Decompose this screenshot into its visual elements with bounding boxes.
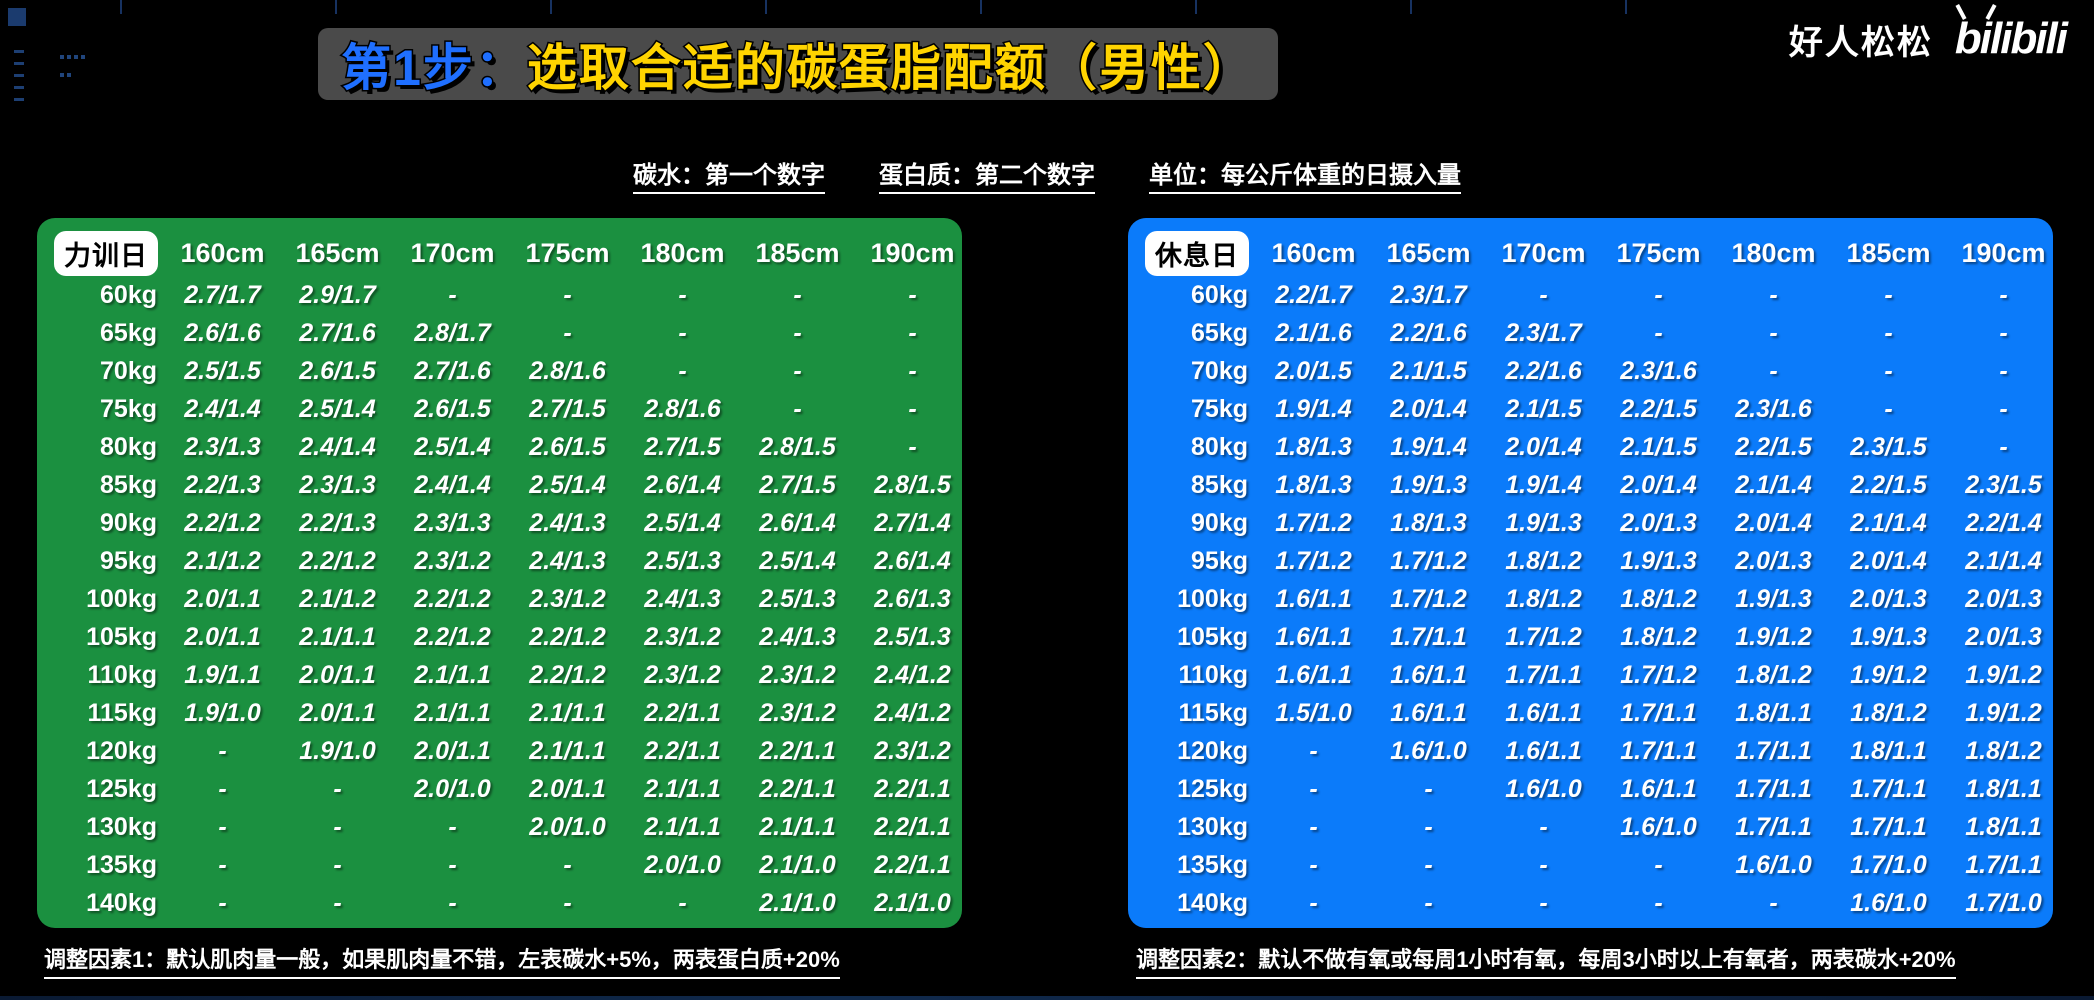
cell-70kg-175cm: 2.8/1.6: [510, 352, 625, 390]
table-row: 95kg2.1/1.22.2/1.22.3/1.22.4/1.32.5/1.32…: [47, 542, 970, 580]
cell-65kg-175cm: -: [1601, 314, 1716, 352]
row-header-85kg: 85kg: [47, 466, 165, 504]
cell-95kg-185cm: 2.0/1.4: [1831, 542, 1946, 580]
cell-65kg-180cm: -: [625, 314, 740, 352]
cell-95kg-160cm: 2.1/1.2: [165, 542, 280, 580]
table-badge-cell: 休息日: [1138, 230, 1256, 276]
bilibili-logo-text: bilibili: [1955, 14, 2066, 63]
cell-140kg-160cm: -: [1256, 884, 1371, 922]
cell-105kg-190cm: 2.0/1.3: [1946, 618, 2061, 656]
cell-140kg-175cm: -: [1601, 884, 1716, 922]
cell-100kg-185cm: 2.0/1.3: [1831, 580, 1946, 618]
table-row: 140kg-----1.6/1.01.7/1.0: [1138, 884, 2061, 922]
column-header-165cm: 165cm: [1371, 230, 1486, 276]
column-header-165cm: 165cm: [280, 230, 395, 276]
cell-90kg-190cm: 2.7/1.4: [855, 504, 970, 542]
cell-120kg-190cm: 1.8/1.2: [1946, 732, 2061, 770]
cell-60kg-165cm: 2.3/1.7: [1371, 276, 1486, 314]
row-header-130kg: 130kg: [47, 808, 165, 846]
column-header-170cm: 170cm: [1486, 230, 1601, 276]
table-row: 100kg1.6/1.11.7/1.21.8/1.21.8/1.21.9/1.3…: [1138, 580, 2061, 618]
cell-75kg-170cm: 2.1/1.5: [1486, 390, 1601, 428]
cell-130kg-190cm: 1.8/1.1: [1946, 808, 2061, 846]
cell-130kg-180cm: 1.7/1.1: [1716, 808, 1831, 846]
cell-125kg-165cm: -: [1371, 770, 1486, 808]
page-title-main: 选取合适的碳蛋脂配额（男性）: [527, 28, 1255, 100]
table-row: 80kg1.8/1.31.9/1.42.0/1.42.1/1.52.2/1.52…: [1138, 428, 2061, 466]
row-header-90kg: 90kg: [47, 504, 165, 542]
column-header-190cm: 190cm: [1946, 230, 2061, 276]
cell-125kg-180cm: 1.7/1.1: [1716, 770, 1831, 808]
table-row: 105kg1.6/1.11.7/1.11.7/1.21.8/1.21.9/1.2…: [1138, 618, 2061, 656]
cell-110kg-185cm: 2.3/1.2: [740, 656, 855, 694]
row-header-95kg: 95kg: [1138, 542, 1256, 580]
cell-135kg-170cm: -: [1486, 846, 1601, 884]
legend-unit: 单位：每公斤体重的日摄入量: [1149, 155, 1461, 194]
row-header-65kg: 65kg: [1138, 314, 1256, 352]
cell-80kg-190cm: -: [1946, 428, 2061, 466]
cell-105kg-165cm: 1.7/1.1: [1371, 618, 1486, 656]
table-row: 100kg2.0/1.12.1/1.22.2/1.22.3/1.22.4/1.3…: [47, 580, 970, 618]
cell-85kg-160cm: 1.8/1.3: [1256, 466, 1371, 504]
cell-90kg-185cm: 2.6/1.4: [740, 504, 855, 542]
row-header-85kg: 85kg: [1138, 466, 1256, 504]
cell-140kg-190cm: 2.1/1.0: [855, 884, 970, 922]
row-header-75kg: 75kg: [47, 390, 165, 428]
cell-90kg-180cm: 2.0/1.4: [1716, 504, 1831, 542]
cell-140kg-185cm: 1.6/1.0: [1831, 884, 1946, 922]
subtitle-legend: 碳水：第一个数字 蛋白质：第二个数字 单位：每公斤体重的日摄入量: [0, 155, 2094, 194]
table-row: 115kg1.9/1.02.0/1.12.1/1.12.1/1.12.2/1.1…: [47, 694, 970, 732]
row-header-115kg: 115kg: [47, 694, 165, 732]
cell-90kg-185cm: 2.1/1.4: [1831, 504, 1946, 542]
cell-80kg-175cm: 2.1/1.5: [1601, 428, 1716, 466]
table-row: 60kg2.7/1.72.9/1.7-----: [47, 276, 970, 314]
cell-70kg-175cm: 2.3/1.6: [1601, 352, 1716, 390]
cell-95kg-185cm: 2.5/1.4: [740, 542, 855, 580]
cell-135kg-160cm: -: [165, 846, 280, 884]
cell-105kg-165cm: 2.1/1.1: [280, 618, 395, 656]
table-row: 60kg2.2/1.72.3/1.7-----: [1138, 276, 2061, 314]
row-header-80kg: 80kg: [47, 428, 165, 466]
training-day-table-card: 力训日160cm165cm170cm175cm180cm185cm190cm 6…: [37, 218, 962, 928]
column-header-160cm: 160cm: [165, 230, 280, 276]
cell-70kg-170cm: 2.7/1.6: [395, 352, 510, 390]
cell-115kg-160cm: 1.5/1.0: [1256, 694, 1371, 732]
cell-120kg-185cm: 2.2/1.1: [740, 732, 855, 770]
cell-90kg-165cm: 2.2/1.3: [280, 504, 395, 542]
cell-130kg-175cm: 1.6/1.0: [1601, 808, 1716, 846]
table-row: 115kg1.5/1.01.6/1.11.6/1.11.7/1.11.8/1.1…: [1138, 694, 2061, 732]
row-header-135kg: 135kg: [1138, 846, 1256, 884]
table-row: 110kg1.9/1.12.0/1.12.1/1.12.2/1.22.3/1.2…: [47, 656, 970, 694]
cell-85kg-180cm: 2.1/1.4: [1716, 466, 1831, 504]
cell-125kg-185cm: 2.2/1.1: [740, 770, 855, 808]
row-header-120kg: 120kg: [1138, 732, 1256, 770]
cell-120kg-170cm: 2.0/1.1: [395, 732, 510, 770]
row-header-120kg: 120kg: [47, 732, 165, 770]
cell-90kg-180cm: 2.5/1.4: [625, 504, 740, 542]
cell-80kg-190cm: -: [855, 428, 970, 466]
training-day-table: 力训日160cm165cm170cm175cm180cm185cm190cm 6…: [47, 230, 970, 922]
table-row: 90kg1.7/1.21.8/1.31.9/1.32.0/1.32.0/1.42…: [1138, 504, 2061, 542]
cell-100kg-160cm: 2.0/1.1: [165, 580, 280, 618]
cell-140kg-160cm: -: [165, 884, 280, 922]
cell-140kg-170cm: -: [1486, 884, 1601, 922]
cell-90kg-160cm: 1.7/1.2: [1256, 504, 1371, 542]
table-row: 95kg1.7/1.21.7/1.21.8/1.21.9/1.32.0/1.32…: [1138, 542, 2061, 580]
cell-105kg-185cm: 1.9/1.3: [1831, 618, 1946, 656]
cell-65kg-160cm: 2.1/1.6: [1256, 314, 1371, 352]
cell-135kg-170cm: -: [395, 846, 510, 884]
cell-75kg-175cm: 2.7/1.5: [510, 390, 625, 428]
table-row: 120kg-1.6/1.01.6/1.11.7/1.11.7/1.11.8/1.…: [1138, 732, 2061, 770]
cell-70kg-160cm: 2.0/1.5: [1256, 352, 1371, 390]
cell-95kg-160cm: 1.7/1.2: [1256, 542, 1371, 580]
cell-115kg-160cm: 1.9/1.0: [165, 694, 280, 732]
cell-140kg-190cm: 1.7/1.0: [1946, 884, 2061, 922]
cell-65kg-175cm: -: [510, 314, 625, 352]
cell-60kg-170cm: -: [1486, 276, 1601, 314]
column-header-175cm: 175cm: [510, 230, 625, 276]
cell-90kg-160cm: 2.2/1.2: [165, 504, 280, 542]
rest-day-table: 休息日160cm165cm170cm175cm180cm185cm190cm 6…: [1138, 230, 2061, 922]
cell-120kg-160cm: -: [165, 732, 280, 770]
cell-120kg-165cm: 1.9/1.0: [280, 732, 395, 770]
row-header-140kg: 140kg: [47, 884, 165, 922]
cell-130kg-185cm: 2.1/1.1: [740, 808, 855, 846]
cell-85kg-185cm: 2.2/1.5: [1831, 466, 1946, 504]
hud-dots: [60, 46, 90, 52]
cell-120kg-175cm: 1.7/1.1: [1601, 732, 1716, 770]
cell-60kg-160cm: 2.7/1.7: [165, 276, 280, 314]
cell-90kg-165cm: 1.8/1.3: [1371, 504, 1486, 542]
cell-100kg-185cm: 2.5/1.3: [740, 580, 855, 618]
cell-130kg-165cm: -: [280, 808, 395, 846]
column-header-170cm: 170cm: [395, 230, 510, 276]
cell-95kg-165cm: 2.2/1.2: [280, 542, 395, 580]
cell-130kg-185cm: 1.7/1.1: [1831, 808, 1946, 846]
cell-75kg-180cm: 2.8/1.6: [625, 390, 740, 428]
cell-80kg-180cm: 2.7/1.5: [625, 428, 740, 466]
cell-60kg-165cm: 2.9/1.7: [280, 276, 395, 314]
table-row: 130kg---2.0/1.02.1/1.12.1/1.12.2/1.1: [47, 808, 970, 846]
row-header-70kg: 70kg: [47, 352, 165, 390]
cell-115kg-180cm: 2.2/1.1: [625, 694, 740, 732]
table-row: 85kg2.2/1.32.3/1.32.4/1.42.5/1.42.6/1.42…: [47, 466, 970, 504]
cell-105kg-180cm: 2.3/1.2: [625, 618, 740, 656]
cell-90kg-190cm: 2.2/1.4: [1946, 504, 2061, 542]
bilibili-logo: bilibili: [1949, 14, 2066, 64]
cell-85kg-190cm: 2.8/1.5: [855, 466, 970, 504]
cell-105kg-180cm: 1.9/1.2: [1716, 618, 1831, 656]
cell-80kg-170cm: 2.5/1.4: [395, 428, 510, 466]
cell-105kg-160cm: 2.0/1.1: [165, 618, 280, 656]
cell-135kg-165cm: -: [280, 846, 395, 884]
cell-130kg-160cm: -: [165, 808, 280, 846]
cell-65kg-160cm: 2.6/1.6: [165, 314, 280, 352]
cell-110kg-180cm: 1.8/1.2: [1716, 656, 1831, 694]
cell-75kg-190cm: -: [1946, 390, 2061, 428]
cell-85kg-160cm: 2.2/1.3: [165, 466, 280, 504]
cell-60kg-180cm: -: [625, 276, 740, 314]
cell-70kg-185cm: -: [740, 352, 855, 390]
cell-110kg-175cm: 2.2/1.2: [510, 656, 625, 694]
cell-100kg-175cm: 2.3/1.2: [510, 580, 625, 618]
cell-105kg-185cm: 2.4/1.3: [740, 618, 855, 656]
table-row: 120kg-1.9/1.02.0/1.12.1/1.12.2/1.12.2/1.…: [47, 732, 970, 770]
cell-135kg-175cm: -: [1601, 846, 1716, 884]
cell-130kg-170cm: -: [1486, 808, 1601, 846]
title-plate: 第1步： 选取合适的碳蛋脂配额（男性）: [318, 28, 1278, 100]
cell-65kg-165cm: 2.2/1.6: [1371, 314, 1486, 352]
cell-130kg-170cm: -: [395, 808, 510, 846]
cell-60kg-180cm: -: [1716, 276, 1831, 314]
column-header-185cm: 185cm: [1831, 230, 1946, 276]
cell-135kg-190cm: 1.7/1.1: [1946, 846, 2061, 884]
cell-95kg-190cm: 2.1/1.4: [1946, 542, 2061, 580]
cell-75kg-185cm: -: [1831, 390, 1946, 428]
cell-120kg-190cm: 2.3/1.2: [855, 732, 970, 770]
cell-95kg-170cm: 1.8/1.2: [1486, 542, 1601, 580]
cell-110kg-185cm: 1.9/1.2: [1831, 656, 1946, 694]
cell-65kg-170cm: 2.8/1.7: [395, 314, 510, 352]
cell-90kg-170cm: 2.3/1.3: [395, 504, 510, 542]
cell-125kg-180cm: 2.1/1.1: [625, 770, 740, 808]
cell-115kg-180cm: 1.8/1.1: [1716, 694, 1831, 732]
table-row: 135kg----2.0/1.02.1/1.02.2/1.1: [47, 846, 970, 884]
column-header-180cm: 180cm: [1716, 230, 1831, 276]
hud-left-bars: [14, 50, 24, 120]
cell-75kg-170cm: 2.6/1.5: [395, 390, 510, 428]
table-badge-label: 休息日: [1145, 231, 1249, 276]
table-row: 70kg2.5/1.52.6/1.52.7/1.62.8/1.6---: [47, 352, 970, 390]
table-row: 90kg2.2/1.22.2/1.32.3/1.32.4/1.32.5/1.42…: [47, 504, 970, 542]
table-row: 135kg----1.6/1.01.7/1.01.7/1.1: [1138, 846, 2061, 884]
cell-75kg-165cm: 2.0/1.4: [1371, 390, 1486, 428]
cell-115kg-175cm: 2.1/1.1: [510, 694, 625, 732]
row-header-75kg: 75kg: [1138, 390, 1256, 428]
cell-95kg-180cm: 2.0/1.3: [1716, 542, 1831, 580]
cell-130kg-160cm: -: [1256, 808, 1371, 846]
table-row: 105kg2.0/1.12.1/1.12.2/1.22.2/1.22.3/1.2…: [47, 618, 970, 656]
cell-135kg-185cm: 2.1/1.0: [740, 846, 855, 884]
hud-top-ticks: [120, 0, 1820, 16]
cell-60kg-175cm: -: [1601, 276, 1716, 314]
column-header-185cm: 185cm: [740, 230, 855, 276]
cell-95kg-170cm: 2.3/1.2: [395, 542, 510, 580]
cell-60kg-185cm: -: [1831, 276, 1946, 314]
table-row: 125kg--2.0/1.02.0/1.12.1/1.12.2/1.12.2/1…: [47, 770, 970, 808]
cell-140kg-180cm: -: [1716, 884, 1831, 922]
cell-125kg-185cm: 1.7/1.1: [1831, 770, 1946, 808]
cell-100kg-165cm: 1.7/1.2: [1371, 580, 1486, 618]
cell-115kg-165cm: 2.0/1.1: [280, 694, 395, 732]
cell-110kg-165cm: 1.6/1.1: [1371, 656, 1486, 694]
row-header-140kg: 140kg: [1138, 884, 1256, 922]
row-header-105kg: 105kg: [1138, 618, 1256, 656]
cell-110kg-160cm: 1.9/1.1: [165, 656, 280, 694]
cell-80kg-165cm: 2.4/1.4: [280, 428, 395, 466]
cell-110kg-175cm: 1.7/1.2: [1601, 656, 1716, 694]
cell-115kg-185cm: 1.8/1.2: [1831, 694, 1946, 732]
cell-105kg-170cm: 2.2/1.2: [395, 618, 510, 656]
cell-95kg-190cm: 2.6/1.4: [855, 542, 970, 580]
row-header-90kg: 90kg: [1138, 504, 1256, 542]
cell-140kg-175cm: -: [510, 884, 625, 922]
legend-carbs: 碳水：第一个数字: [633, 155, 825, 194]
cell-75kg-175cm: 2.2/1.5: [1601, 390, 1716, 428]
cell-125kg-190cm: 1.8/1.1: [1946, 770, 2061, 808]
cell-105kg-175cm: 2.2/1.2: [510, 618, 625, 656]
cell-115kg-185cm: 2.3/1.2: [740, 694, 855, 732]
cell-85kg-170cm: 2.4/1.4: [395, 466, 510, 504]
cell-65kg-180cm: -: [1716, 314, 1831, 352]
table-row: 65kg2.1/1.62.2/1.62.3/1.7----: [1138, 314, 2061, 352]
cell-125kg-175cm: 2.0/1.1: [510, 770, 625, 808]
row-header-110kg: 110kg: [47, 656, 165, 694]
column-header-175cm: 175cm: [1601, 230, 1716, 276]
table-row: 85kg1.8/1.31.9/1.31.9/1.42.0/1.42.1/1.42…: [1138, 466, 2061, 504]
row-header-80kg: 80kg: [1138, 428, 1256, 466]
cell-60kg-185cm: -: [740, 276, 855, 314]
page-title: 第1步： 选取合适的碳蛋脂配额（男性）: [318, 28, 1278, 100]
cell-75kg-165cm: 2.5/1.4: [280, 390, 395, 428]
row-header-110kg: 110kg: [1138, 656, 1256, 694]
cell-115kg-190cm: 1.9/1.2: [1946, 694, 2061, 732]
cell-115kg-165cm: 1.6/1.1: [1371, 694, 1486, 732]
cell-85kg-190cm: 2.3/1.5: [1946, 466, 2061, 504]
cell-120kg-185cm: 1.8/1.1: [1831, 732, 1946, 770]
cell-65kg-185cm: -: [1831, 314, 1946, 352]
cell-115kg-175cm: 1.7/1.1: [1601, 694, 1716, 732]
table-row: 140kg-----2.1/1.02.1/1.0: [47, 884, 970, 922]
table-badge-label: 力训日: [54, 231, 158, 276]
cell-70kg-180cm: -: [1716, 352, 1831, 390]
cell-100kg-180cm: 1.9/1.3: [1716, 580, 1831, 618]
cell-60kg-190cm: -: [1946, 276, 2061, 314]
cell-65kg-190cm: -: [1946, 314, 2061, 352]
legend-protein: 蛋白质：第二个数字: [879, 155, 1095, 194]
cell-70kg-190cm: -: [855, 352, 970, 390]
cell-125kg-190cm: 2.2/1.1: [855, 770, 970, 808]
row-header-125kg: 125kg: [1138, 770, 1256, 808]
cell-70kg-170cm: 2.2/1.6: [1486, 352, 1601, 390]
cell-135kg-160cm: -: [1256, 846, 1371, 884]
cell-120kg-180cm: 1.7/1.1: [1716, 732, 1831, 770]
cell-120kg-180cm: 2.2/1.1: [625, 732, 740, 770]
column-header-180cm: 180cm: [625, 230, 740, 276]
cell-135kg-175cm: -: [510, 846, 625, 884]
cell-100kg-170cm: 1.8/1.2: [1486, 580, 1601, 618]
cell-85kg-175cm: 2.0/1.4: [1601, 466, 1716, 504]
cell-125kg-160cm: -: [165, 770, 280, 808]
table-row: 70kg2.0/1.52.1/1.52.2/1.62.3/1.6---: [1138, 352, 2061, 390]
cell-65kg-190cm: -: [855, 314, 970, 352]
cell-80kg-165cm: 1.9/1.4: [1371, 428, 1486, 466]
cell-80kg-170cm: 2.0/1.4: [1486, 428, 1601, 466]
cell-85kg-180cm: 2.6/1.4: [625, 466, 740, 504]
hud-corner-decoration: [8, 8, 26, 26]
cell-105kg-190cm: 2.5/1.3: [855, 618, 970, 656]
cell-70kg-165cm: 2.1/1.5: [1371, 352, 1486, 390]
cell-110kg-190cm: 2.4/1.2: [855, 656, 970, 694]
row-header-130kg: 130kg: [1138, 808, 1256, 846]
table-row: 80kg2.3/1.32.4/1.42.5/1.42.6/1.52.7/1.52…: [47, 428, 970, 466]
cell-130kg-175cm: 2.0/1.0: [510, 808, 625, 846]
column-header-160cm: 160cm: [1256, 230, 1371, 276]
cell-70kg-185cm: -: [1831, 352, 1946, 390]
table-badge-cell: 力训日: [47, 230, 165, 276]
row-header-105kg: 105kg: [47, 618, 165, 656]
cell-80kg-160cm: 1.8/1.3: [1256, 428, 1371, 466]
row-header-65kg: 65kg: [47, 314, 165, 352]
cell-75kg-180cm: 2.3/1.6: [1716, 390, 1831, 428]
cell-90kg-175cm: 2.0/1.3: [1601, 504, 1716, 542]
cell-140kg-180cm: -: [625, 884, 740, 922]
cell-135kg-180cm: 1.6/1.0: [1716, 846, 1831, 884]
cell-105kg-175cm: 1.8/1.2: [1601, 618, 1716, 656]
row-header-60kg: 60kg: [47, 276, 165, 314]
cell-70kg-165cm: 2.6/1.5: [280, 352, 395, 390]
cell-135kg-165cm: -: [1371, 846, 1486, 884]
cell-110kg-170cm: 2.1/1.1: [395, 656, 510, 694]
cell-100kg-170cm: 2.2/1.2: [395, 580, 510, 618]
row-header-125kg: 125kg: [47, 770, 165, 808]
cell-110kg-165cm: 2.0/1.1: [280, 656, 395, 694]
cell-120kg-175cm: 2.1/1.1: [510, 732, 625, 770]
cell-60kg-190cm: -: [855, 276, 970, 314]
cell-125kg-175cm: 1.6/1.1: [1601, 770, 1716, 808]
cell-105kg-170cm: 1.7/1.2: [1486, 618, 1601, 656]
cell-85kg-185cm: 2.7/1.5: [740, 466, 855, 504]
row-header-60kg: 60kg: [1138, 276, 1256, 314]
cell-125kg-160cm: -: [1256, 770, 1371, 808]
cell-115kg-170cm: 2.1/1.1: [395, 694, 510, 732]
cell-65kg-170cm: 2.3/1.7: [1486, 314, 1601, 352]
cell-80kg-185cm: 2.3/1.5: [1831, 428, 1946, 466]
cell-130kg-190cm: 2.2/1.1: [855, 808, 970, 846]
cell-85kg-165cm: 2.3/1.3: [280, 466, 395, 504]
row-header-115kg: 115kg: [1138, 694, 1256, 732]
table-header-row: 休息日160cm165cm170cm175cm180cm185cm190cm: [1138, 230, 2061, 276]
cell-85kg-170cm: 1.9/1.4: [1486, 466, 1601, 504]
cell-135kg-190cm: 2.2/1.1: [855, 846, 970, 884]
page-title-step: 第1步：: [341, 28, 527, 100]
cell-120kg-160cm: -: [1256, 732, 1371, 770]
cell-120kg-165cm: 1.6/1.0: [1371, 732, 1486, 770]
cell-65kg-165cm: 2.7/1.6: [280, 314, 395, 352]
hud-bottom-line: [0, 996, 2094, 1000]
column-header-190cm: 190cm: [855, 230, 970, 276]
row-header-100kg: 100kg: [47, 580, 165, 618]
cell-75kg-185cm: -: [740, 390, 855, 428]
cell-140kg-165cm: -: [1371, 884, 1486, 922]
row-header-70kg: 70kg: [1138, 352, 1256, 390]
cell-80kg-160cm: 2.3/1.3: [165, 428, 280, 466]
cell-140kg-165cm: -: [280, 884, 395, 922]
cell-100kg-165cm: 2.1/1.2: [280, 580, 395, 618]
cell-100kg-190cm: 2.0/1.3: [1946, 580, 2061, 618]
cell-100kg-160cm: 1.6/1.1: [1256, 580, 1371, 618]
cell-125kg-165cm: -: [280, 770, 395, 808]
cell-110kg-190cm: 1.9/1.2: [1946, 656, 2061, 694]
cell-130kg-180cm: 2.1/1.1: [625, 808, 740, 846]
cell-80kg-180cm: 2.2/1.5: [1716, 428, 1831, 466]
cell-95kg-165cm: 1.7/1.2: [1371, 542, 1486, 580]
table-row: 125kg--1.6/1.01.6/1.11.7/1.11.7/1.11.8/1…: [1138, 770, 2061, 808]
cell-130kg-165cm: -: [1371, 808, 1486, 846]
